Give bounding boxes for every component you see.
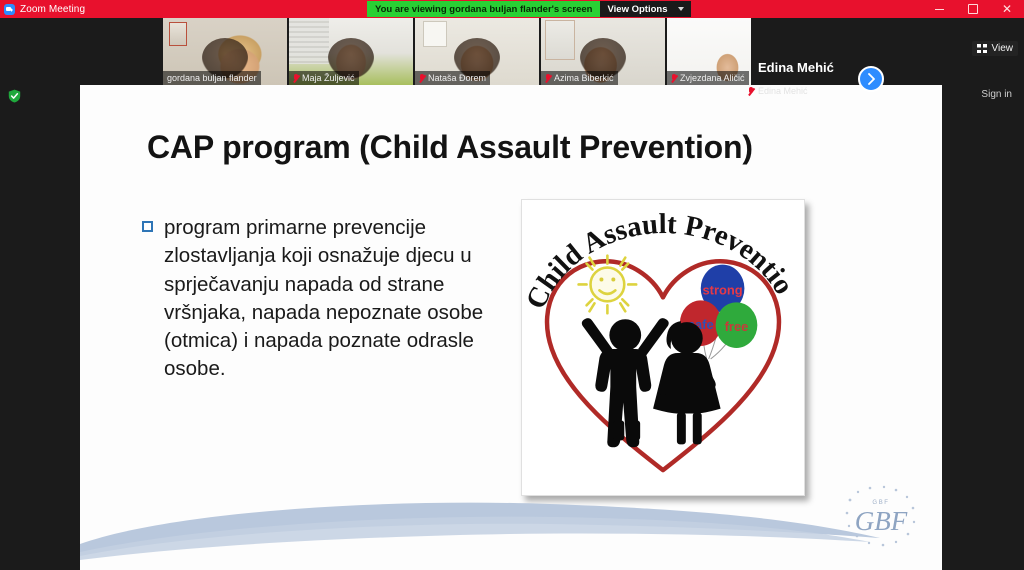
window-title: Zoom Meeting (20, 4, 85, 15)
grid-view-icon (977, 44, 987, 53)
participant-name: Maja Žuljević (302, 73, 355, 83)
close-icon[interactable]: ✕ (990, 0, 1024, 18)
square-bullet-icon (142, 221, 153, 232)
participant-name: Azima Biberkić (554, 73, 614, 83)
participant-filmstrip: gordana buljan flander Maja Žuljević Nat… (0, 18, 1024, 85)
mic-muted-icon (545, 74, 551, 83)
view-layout-button[interactable]: View (972, 41, 1019, 56)
participant-tile[interactable]: Azima Biberkić (541, 18, 665, 85)
active-speaker-badge: Edina Mehić (748, 86, 808, 96)
view-button-label: View (992, 43, 1014, 54)
screen-share-bar: You are viewing gordana buljan flander's… (367, 1, 691, 17)
chevron-down-icon (678, 7, 684, 11)
participant-tiles: gordana buljan flander Maja Žuljević Nat… (163, 18, 753, 85)
participant-name-badge: Maja Žuljević (289, 71, 359, 85)
slide-title: CAP program (Child Assault Prevention) (147, 129, 753, 166)
svg-text:GBF: GBF (855, 506, 908, 536)
minimize-icon[interactable] (922, 0, 956, 18)
window-controls: ✕ (922, 0, 1024, 18)
mic-muted-icon (419, 74, 425, 83)
participant-tile[interactable]: Nataša Đorem (415, 18, 539, 85)
svg-text:free: free (725, 319, 749, 334)
mic-muted-icon (671, 74, 677, 83)
mic-muted-icon (748, 87, 754, 96)
participant-name-badge: Nataša Đorem (415, 71, 490, 85)
participant-name: gordana buljan flander (167, 73, 257, 83)
cap-logo-graphic: strong safe free (522, 200, 804, 495)
svg-text:strong: strong (703, 282, 743, 297)
active-speaker-name: Edina Mehić (758, 60, 834, 75)
next-participants-button[interactable] (858, 66, 884, 92)
sun-icon (579, 256, 637, 314)
active-speaker-tile-name: Edina Mehić (758, 86, 808, 96)
balloon-free: free (716, 302, 758, 348)
maximize-icon[interactable] (956, 0, 990, 18)
share-banner-text: You are viewing gordana buljan flander's… (367, 1, 600, 17)
view-options-button[interactable]: View Options (600, 1, 690, 17)
active-speaker-panel: Edina Mehić Edina Mehić View (716, 36, 1024, 103)
slide-swoosh-decoration (80, 460, 942, 570)
participant-tile[interactable]: gordana buljan flander (163, 18, 287, 85)
participant-name: Nataša Đorem (428, 73, 486, 83)
shared-screen-slide: CAP program (Child Assault Prevention) p… (80, 84, 942, 570)
zoom-logo-icon (4, 4, 15, 15)
view-options-label: View Options (607, 4, 667, 15)
participant-name-badge: gordana buljan flander (163, 71, 261, 85)
shield-check-icon (8, 89, 21, 103)
mic-muted-icon (293, 74, 299, 83)
participant-name-badge: Azima Biberkić (541, 71, 618, 85)
zoom-meeting-window: Zoom Meeting You are viewing gordana bul… (0, 0, 1024, 570)
cap-logo-image: strong safe free (521, 199, 805, 496)
window-titlebar: Zoom Meeting You are viewing gordana bul… (0, 0, 1024, 18)
participant-tile[interactable]: Maja Žuljević (289, 18, 413, 85)
chevron-right-icon (867, 73, 876, 85)
gbf-watermark: GBF GBF (838, 482, 924, 550)
slide-bullet-text: program primarne prevencije zlostavljanj… (164, 214, 487, 384)
slide-bullet: program primarne prevencije zlostavljanj… (142, 214, 487, 384)
